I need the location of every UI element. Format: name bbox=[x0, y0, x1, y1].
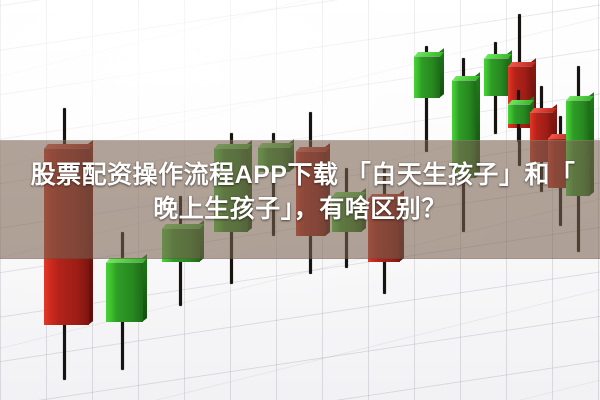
headline-line-2: 晚上生孩子」，有啥区别？ bbox=[0, 192, 600, 226]
candlestick-banner-image: 股票配资操作流程APP下载 「白天生孩子」和「 晚上生孩子」，有啥区别？ bbox=[0, 0, 600, 400]
headline-line-1: 股票配资操作流程APP下载 「白天生孩子」和「 bbox=[0, 158, 600, 192]
candle-body-up bbox=[414, 56, 440, 98]
candle-body-up bbox=[508, 104, 530, 124]
candle-body-up bbox=[106, 262, 143, 322]
candle-body-up bbox=[484, 58, 508, 96]
headline-text: 股票配资操作流程APP下载 「白天生孩子」和「 晚上生孩子」，有啥区别？ bbox=[0, 158, 600, 226]
